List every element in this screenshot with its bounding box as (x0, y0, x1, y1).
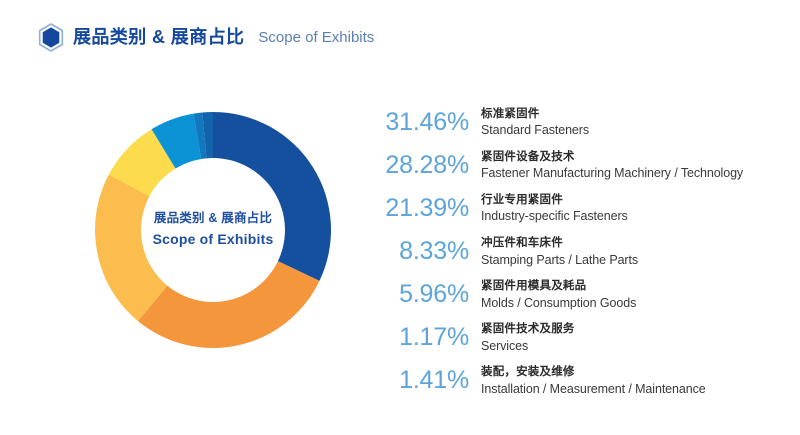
legend-percentage: 1.41% (366, 362, 469, 398)
page-title-en: Scope of Exhibits (258, 30, 374, 45)
legend-row: 28.28%紧固件设备及技术Fastener Manufacturing Mac… (366, 147, 786, 183)
legend-label-cn: 装配，安装及维修 (481, 364, 706, 380)
legend-text-group: 标准紧固件Standard Fasteners (469, 104, 589, 140)
legend-percentage: 8.33% (366, 233, 469, 269)
legend-text-group: 行业专用紧固件Industry-specific Fasteners (469, 190, 628, 226)
legend-percentage: 31.46% (366, 104, 469, 140)
page-title-cn: 展品类别 & 展商占比 (73, 28, 244, 46)
donut-slices (95, 112, 331, 348)
hexagon-icon (38, 23, 64, 52)
legend-percentage: 21.39% (366, 190, 469, 226)
legend-label-cn: 标准紧固件 (481, 106, 589, 122)
legend-label-cn: 紧固件技术及服务 (481, 321, 575, 337)
legend-text-group: 紧固件用模具及耗品Molds / Consumption Goods (469, 276, 636, 312)
legend-percentage: 5.96% (366, 276, 469, 312)
legend-label-en: Fastener Manufacturing Machinery / Techn… (481, 165, 743, 183)
legend-row: 8.33%冲压件和车床件Stamping Parts / Lathe Parts (366, 233, 786, 269)
legend-row: 5.96%紧固件用模具及耗品Molds / Consumption Goods (366, 276, 786, 312)
legend-percentage: 28.28% (366, 147, 469, 183)
legend-row: 1.17%紧固件技术及服务 Services (366, 319, 786, 355)
legend-row: 21.39%行业专用紧固件Industry-specific Fasteners (366, 190, 786, 226)
donut-slice (213, 112, 331, 281)
legend-label-en: Installation / Measurement / Maintenance (481, 381, 706, 399)
legend-label-en: Industry-specific Fasteners (481, 208, 628, 226)
donut-chart-svg (95, 112, 331, 348)
donut-chart: 展品类别 & 展商占比 Scope of Exhibits (95, 112, 331, 348)
legend-label-en: Services (481, 338, 575, 356)
legend-label-cn: 行业专用紧固件 (481, 192, 628, 208)
page-header: 展品类别 & 展商占比 Scope of Exhibits (38, 20, 374, 54)
legend-row: 1.41%装配，安装及维修Installation / Measurement … (366, 362, 786, 398)
legend-row: 31.46%标准紧固件Standard Fasteners (366, 104, 786, 140)
legend-text-group: 紧固件设备及技术Fastener Manufacturing Machinery… (469, 147, 743, 183)
legend-text-group: 紧固件技术及服务 Services (469, 319, 575, 355)
legend-label-en: Molds / Consumption Goods (481, 295, 636, 313)
legend-text-group: 冲压件和车床件Stamping Parts / Lathe Parts (469, 233, 638, 269)
legend-label-cn: 紧固件用模具及耗品 (481, 278, 636, 294)
legend: 31.46%标准紧固件Standard Fasteners28.28%紧固件设备… (366, 104, 786, 406)
donut-slice (138, 261, 319, 348)
legend-label-en: Standard Fasteners (481, 122, 589, 140)
legend-label-cn: 紧固件设备及技术 (481, 149, 743, 165)
legend-label-cn: 冲压件和车床件 (481, 235, 638, 251)
legend-label-en: Stamping Parts / Lathe Parts (481, 252, 638, 270)
legend-percentage: 1.17% (366, 319, 469, 355)
legend-text-group: 装配，安装及维修Installation / Measurement / Mai… (469, 362, 706, 398)
